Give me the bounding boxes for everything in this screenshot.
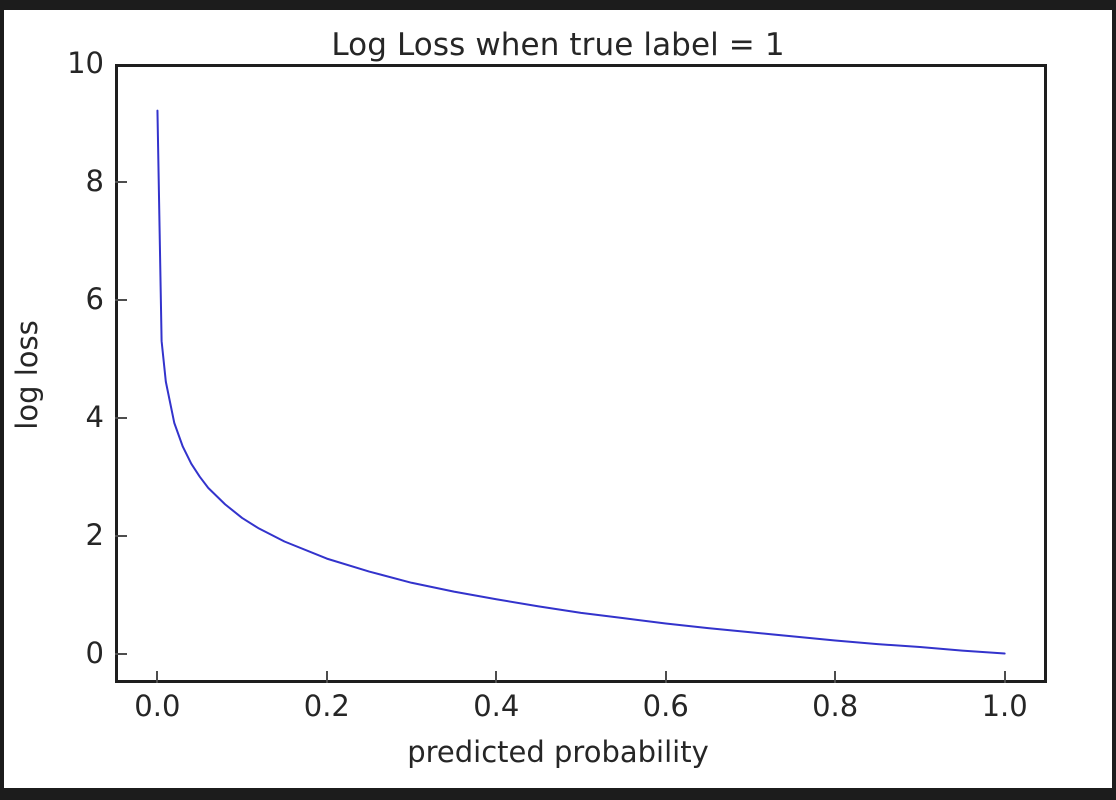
x-tick-label: 1.0 [945, 692, 1065, 721]
x-tick-label: 0.8 [775, 692, 895, 721]
x-tick-mark [665, 671, 667, 683]
y-tick-mark [115, 417, 127, 419]
x-tick-mark [156, 671, 158, 683]
screenshot-root: Log Loss when true label = 1 0246810 0.0… [0, 0, 1116, 800]
y-tick-mark [115, 181, 127, 183]
x-tick-label: 0.0 [97, 692, 217, 721]
x-tick-label: 0.6 [606, 692, 726, 721]
log-loss-curve [115, 64, 1047, 683]
x-tick-label: 0.4 [436, 692, 556, 721]
y-axis-label: log loss [10, 275, 44, 475]
x-tick-mark [326, 671, 328, 683]
x-tick-mark [495, 671, 497, 683]
x-tick-mark [834, 671, 836, 683]
plot-area [115, 64, 1047, 683]
figure-canvas: Log Loss when true label = 1 0246810 0.0… [4, 10, 1112, 788]
y-tick-mark [115, 653, 127, 655]
x-tick-label: 0.2 [267, 692, 387, 721]
x-axis-label: predicted probability [4, 735, 1112, 769]
x-tick-mark [1004, 671, 1006, 683]
y-tick-mark [115, 535, 127, 537]
y-tick-mark [115, 299, 127, 301]
